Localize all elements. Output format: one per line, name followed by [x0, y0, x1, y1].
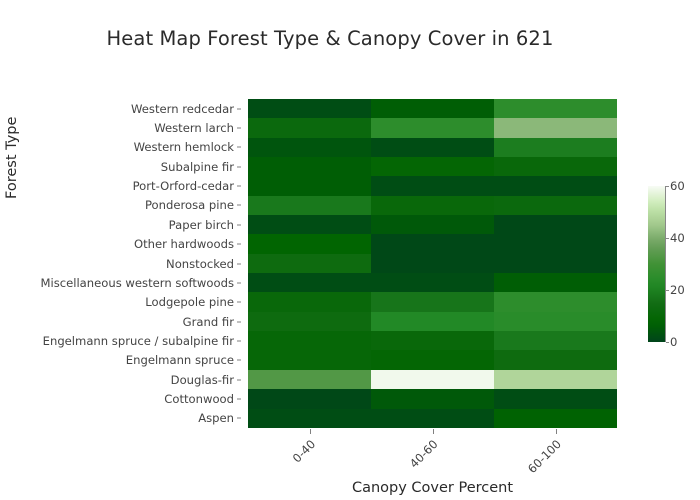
heatmap-cell[interactable]	[248, 234, 371, 253]
heatmap-row	[248, 331, 617, 350]
heatmap-cell[interactable]	[248, 389, 371, 408]
heatmap-cell[interactable]	[248, 292, 371, 311]
heatmap-cell[interactable]	[494, 118, 617, 137]
heatmap-row	[248, 138, 617, 157]
colorbar-gradient	[648, 186, 665, 342]
heatmap-row	[248, 389, 617, 408]
heatmap-cell[interactable]	[371, 99, 494, 118]
heatmap-row	[248, 99, 617, 118]
y-axis-tick-mark	[237, 205, 241, 206]
page-title: Heat Map Forest Type & Canopy Cover in 6…	[0, 27, 660, 50]
heatmap-cell[interactable]	[371, 389, 494, 408]
heatmap-figure: Heat Map Forest Type & Canopy Cover in 6…	[0, 0, 700, 500]
y-axis-tick-label: Port-Orford-cedar	[133, 179, 234, 193]
heatmap-cell[interactable]	[494, 350, 617, 369]
y-axis-tick-mark	[237, 321, 241, 322]
y-axis-tick-mark	[237, 147, 241, 148]
y-axis-tick-mark	[237, 418, 241, 419]
x-axis-tick-label: 40-60	[406, 437, 440, 471]
heatmap-cell[interactable]	[248, 157, 371, 176]
heatmap-cell[interactable]	[494, 292, 617, 311]
heatmap-row	[248, 196, 617, 215]
heatmap-cell[interactable]	[248, 196, 371, 215]
heatmap-cell[interactable]	[494, 331, 617, 350]
heatmap-cell[interactable]	[494, 389, 617, 408]
y-axis-tick-mark	[237, 282, 241, 283]
heatmap-cell[interactable]	[248, 409, 371, 428]
y-axis-tick-mark	[237, 302, 241, 303]
heatmap-cell[interactable]	[248, 215, 371, 234]
y-axis-tick-label: Other hardwoods	[134, 237, 234, 251]
heatmap-row	[248, 292, 617, 311]
heatmap-row	[248, 273, 617, 292]
heatmap-row	[248, 370, 617, 389]
y-axis-tick-label: Cottonwood	[164, 392, 234, 406]
x-axis-tick-mark	[433, 429, 434, 434]
x-axis-tick-mark	[310, 429, 311, 434]
heatmap-cell[interactable]	[494, 254, 617, 273]
heatmap-cell[interactable]	[494, 370, 617, 389]
heatmap-cell[interactable]	[371, 176, 494, 195]
heatmap-cell[interactable]	[248, 331, 371, 350]
heatmap-cell[interactable]	[248, 350, 371, 369]
y-axis-tick-label: Paper birch	[169, 218, 234, 232]
y-axis-tick-label: Douglas-fir	[171, 373, 234, 387]
heatmap-cell[interactable]	[494, 409, 617, 428]
heatmap-cell[interactable]	[371, 350, 494, 369]
y-axis-tick-mark	[237, 340, 241, 341]
colorbar-tick-mark	[666, 342, 669, 343]
heatmap-row	[248, 118, 617, 137]
heatmap-cell[interactable]	[371, 409, 494, 428]
heatmap-cell[interactable]	[248, 273, 371, 292]
heatmap-row	[248, 157, 617, 176]
heatmap-row	[248, 350, 617, 369]
heatmap-cell[interactable]	[371, 215, 494, 234]
heatmap-cell[interactable]	[494, 312, 617, 331]
y-axis-tick-mark	[237, 360, 241, 361]
heatmap-row	[248, 312, 617, 331]
y-axis-tick-label: Nonstocked	[166, 257, 234, 271]
y-axis-tick-mark	[237, 244, 241, 245]
y-axis-tick-mark	[237, 166, 241, 167]
heatmap-cell[interactable]	[494, 234, 617, 253]
heatmap-cell[interactable]	[248, 99, 371, 118]
y-axis-tick-mark	[237, 263, 241, 264]
heatmap-plot-area[interactable]	[248, 99, 617, 428]
heatmap-row	[248, 215, 617, 234]
y-axis-tick-mark	[237, 128, 241, 129]
heatmap-row	[248, 409, 617, 428]
y-axis-tick-label: Engelmann spruce	[126, 353, 234, 367]
heatmap-cell[interactable]	[494, 138, 617, 157]
colorbar-axis-line	[665, 186, 666, 342]
heatmap-cell[interactable]	[371, 196, 494, 215]
y-axis-tick-mark	[237, 224, 241, 225]
heatmap-cell[interactable]	[248, 370, 371, 389]
heatmap-cell[interactable]	[494, 99, 617, 118]
heatmap-cell[interactable]	[371, 157, 494, 176]
heatmap-cell[interactable]	[371, 118, 494, 137]
heatmap-cell[interactable]	[248, 254, 371, 273]
heatmap-cell[interactable]	[494, 157, 617, 176]
colorbar-tick-mark	[666, 186, 669, 187]
y-axis-tick-label: Subalpine fir	[161, 160, 234, 174]
colorbar-tick-mark	[666, 290, 669, 291]
x-axis-tick-label: 0-40	[289, 437, 318, 466]
y-axis-tick-mark	[237, 186, 241, 187]
y-axis-tick-mark	[237, 108, 241, 109]
y-axis-tick-mark	[237, 398, 241, 399]
y-axis-tick-labels: Western redcedarWestern larchWestern hem…	[0, 99, 241, 428]
x-axis-tick-mark	[556, 429, 557, 434]
colorbar-tick-label: 60	[670, 179, 685, 193]
heatmap-row	[248, 234, 617, 253]
colorbar[interactable]	[648, 186, 665, 342]
colorbar-tick-label: 20	[670, 283, 685, 297]
y-axis-tick-label: Engelmann spruce / subalpine fir	[43, 334, 234, 348]
heatmap-cell[interactable]	[371, 138, 494, 157]
heatmap-cell[interactable]	[371, 254, 494, 273]
heatmap-cell[interactable]	[371, 331, 494, 350]
heatmap-cell[interactable]	[248, 176, 371, 195]
heatmap-row	[248, 254, 617, 273]
y-axis-tick-label: Ponderosa pine	[145, 198, 234, 212]
heatmap-cell[interactable]	[494, 273, 617, 292]
y-axis-tick-label: Western hemlock	[134, 140, 234, 154]
heatmap-cell[interactable]	[248, 118, 371, 137]
heatmap-cell[interactable]	[371, 273, 494, 292]
colorbar-tick-label: 40	[670, 231, 685, 245]
colorbar-tick-label: 0	[670, 335, 677, 349]
y-axis-tick-label: Lodgepole pine	[145, 295, 234, 309]
heatmap-cell[interactable]	[494, 215, 617, 234]
heatmap-cell[interactable]	[494, 176, 617, 195]
x-axis-tick-label: 60-100	[525, 437, 564, 476]
y-axis-tick-mark	[237, 379, 241, 380]
x-axis-title: Canopy Cover Percent	[248, 480, 617, 496]
heatmap-cell[interactable]	[371, 234, 494, 253]
heatmap-cell[interactable]	[248, 138, 371, 157]
heatmap-cell[interactable]	[494, 196, 617, 215]
y-axis-tick-label: Western larch	[154, 121, 234, 135]
heatmap-cell[interactable]	[248, 312, 371, 331]
y-axis-tick-label: Miscellaneous western softwoods	[40, 276, 234, 290]
y-axis-tick-label: Grand fir	[183, 315, 234, 329]
heatmap-cell[interactable]	[371, 312, 494, 331]
heatmap-row	[248, 176, 617, 195]
y-axis-tick-label: Western redcedar	[131, 102, 234, 116]
y-axis-tick-label: Aspen	[198, 411, 234, 425]
heatmap-cell[interactable]	[371, 370, 494, 389]
colorbar-tick-mark	[666, 238, 669, 239]
heatmap-cell[interactable]	[371, 292, 494, 311]
